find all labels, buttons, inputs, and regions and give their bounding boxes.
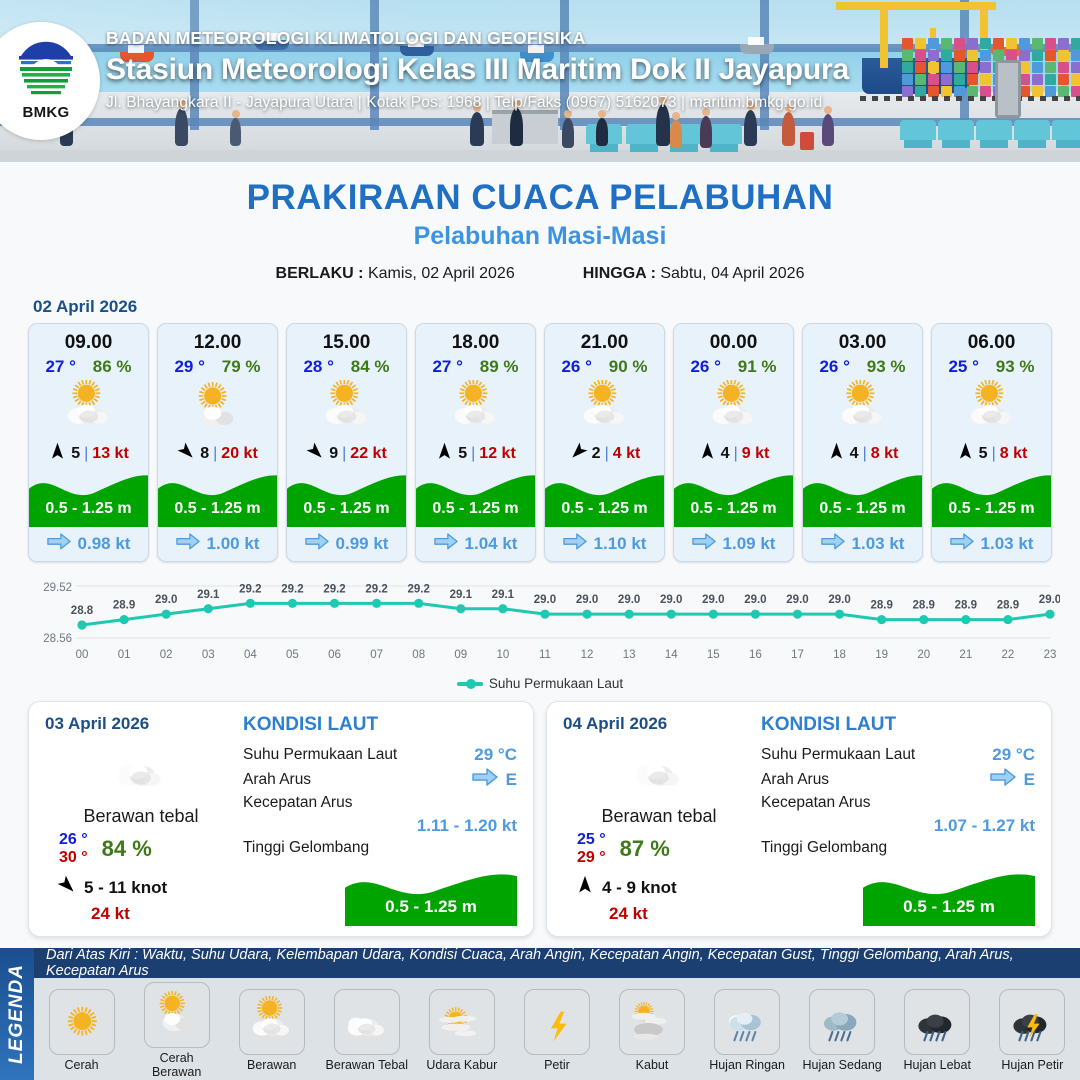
sst-label: Suhu Permukaan Laut xyxy=(243,746,397,764)
wind-direction-arrow-icon xyxy=(698,442,717,466)
current-speed: 0.99 kt xyxy=(336,534,389,554)
wind-separator: | xyxy=(84,445,88,463)
current-speed-value: 1.07 - 1.27 kt xyxy=(761,816,1035,836)
svg-text:20: 20 xyxy=(917,649,930,661)
valid-from-label: BERLAKU : xyxy=(276,265,364,282)
daily-summary-card[interactable]: 04 April 2026 Berawan tebal 25 ° 29 ° 87… xyxy=(546,701,1052,937)
valid-until: HINGGA : Sabtu, 04 April 2026 xyxy=(583,265,805,283)
weather-berawan-icon xyxy=(287,377,406,439)
wind-direction-arrow-icon xyxy=(435,442,454,466)
svg-text:01: 01 xyxy=(118,649,131,661)
current-direction-arrow-icon xyxy=(692,533,716,555)
svg-text:29.2: 29.2 xyxy=(365,583,387,595)
wind-separator: | xyxy=(471,445,475,463)
sst-value: 29 °C xyxy=(992,745,1035,765)
wave-height-value: 0.5 - 1.25 m xyxy=(29,500,148,518)
current-speed: 1.10 kt xyxy=(594,534,647,554)
svg-text:18: 18 xyxy=(833,649,846,661)
legend-item-label: Hujan Lebat xyxy=(894,1058,980,1072)
forecast-humidity: 93 % xyxy=(867,357,906,377)
svg-text:00: 00 xyxy=(76,649,89,661)
svg-text:29.1: 29.1 xyxy=(450,589,473,601)
forecast-time: 03.00 xyxy=(803,324,922,356)
wind-speed: 4 xyxy=(850,445,859,463)
svg-text:28.9: 28.9 xyxy=(955,600,977,612)
legend-item: Petir xyxy=(514,989,600,1072)
agency-name: BADAN METEOROLOGI KLIMATOLOGI DAN GEOFIS… xyxy=(106,28,849,49)
daily-gust: 24 kt xyxy=(45,904,237,924)
forecast-humidity: 93 % xyxy=(996,357,1035,377)
legend-item: Kabut xyxy=(609,989,695,1072)
current-speed: 1.04 kt xyxy=(465,534,518,554)
legend-tab-label: LEGENDA xyxy=(6,964,28,1064)
forecast-humidity: 84 % xyxy=(351,357,390,377)
svg-text:11: 11 xyxy=(539,649,551,661)
daily-humidity: 84 % xyxy=(102,836,152,862)
current-speed: 0.98 kt xyxy=(78,534,131,554)
svg-text:22: 22 xyxy=(1002,649,1015,661)
forecast-card[interactable]: 21.00 26 ° 90 % 2 | 4 kt 0.5 - 1.25 m 1.… xyxy=(544,323,665,562)
svg-text:08: 08 xyxy=(412,649,425,661)
daily-wind-range: 4 - 9 knot xyxy=(602,878,677,898)
wind-direction-arrow-icon xyxy=(177,442,196,466)
wind-separator: | xyxy=(213,445,217,463)
svg-text:29.52: 29.52 xyxy=(43,582,72,594)
svg-text:29.1: 29.1 xyxy=(492,589,515,601)
page-title-block: PRAKIRAAN CUACA PELABUHAN Pelabuhan Masi… xyxy=(0,178,1080,283)
wind-direction-arrow-icon xyxy=(827,442,846,466)
wind-direction-arrow-icon xyxy=(569,442,588,466)
wind-speed: 9 xyxy=(329,445,338,463)
wave-height-band: 0.5 - 1.25 m xyxy=(932,469,1051,527)
wind-separator: | xyxy=(863,445,867,463)
svg-text:29.0: 29.0 xyxy=(702,594,724,606)
svg-text:06: 06 xyxy=(328,649,341,661)
weather-berawan-icon xyxy=(29,377,148,439)
forecast-time: 12.00 xyxy=(158,324,277,356)
wave-height-value: 0.5 - 1.25 m xyxy=(158,500,277,518)
forecast-temperature: 26 ° xyxy=(561,357,591,377)
wave-height-band: 0.5 - 1.25 m xyxy=(158,469,277,527)
svg-text:19: 19 xyxy=(875,649,888,661)
weather-berawan-icon xyxy=(416,377,535,439)
daily-wind-direction-arrow-icon xyxy=(57,875,77,900)
wave-height-value: 0.5 - 1.25 m xyxy=(287,500,406,518)
legend-item: Cerah Berawan xyxy=(134,982,220,1079)
svg-text:29.0: 29.0 xyxy=(534,594,556,606)
bmkg-emblem-icon xyxy=(15,34,77,104)
legend-item-label: Berawan xyxy=(229,1058,315,1072)
page-title: PRAKIRAAN CUACA PELABUHAN xyxy=(0,178,1080,218)
wave-height-label: Tinggi Gelombang xyxy=(761,839,887,857)
wind-separator: | xyxy=(605,445,609,463)
weather-berawan-tebal-icon xyxy=(334,989,400,1055)
weather-hujan-lebat-icon xyxy=(904,989,970,1055)
wind-direction-arrow-icon xyxy=(956,442,975,466)
weather-berawan-icon xyxy=(545,377,664,439)
weather-berawan-icon xyxy=(239,989,305,1055)
weather-cerah-icon xyxy=(49,989,115,1055)
daily-condition: Berawan tebal xyxy=(563,806,755,827)
current-direction-arrow-icon xyxy=(305,533,329,555)
weather-petir-icon xyxy=(524,989,590,1055)
svg-text:28.9: 28.9 xyxy=(913,600,935,612)
forecast-card[interactable]: 12.00 29 ° 79 % 8 | 20 kt 0.5 - 1.25 m 1… xyxy=(157,323,278,562)
wind-speed: 5 xyxy=(71,445,80,463)
svg-text:29.2: 29.2 xyxy=(323,583,345,595)
weather-kabut-icon xyxy=(619,989,685,1055)
daily-condition: Berawan tebal xyxy=(45,806,237,827)
daily-wind-range: 5 - 11 knot xyxy=(84,878,167,898)
wind-separator: | xyxy=(734,445,738,463)
forecast-card[interactable]: 15.00 28 ° 84 % 9 | 22 kt 0.5 - 1.25 m 0… xyxy=(286,323,407,562)
legend-tab: LEGENDA xyxy=(0,948,34,1080)
legend-item: Hujan Lebat xyxy=(894,989,980,1072)
current-speed-label: Kecepatan Arus xyxy=(761,794,870,812)
svg-text:16: 16 xyxy=(749,649,762,661)
daily-date: 03 April 2026 xyxy=(45,714,237,734)
current-direction-arrow-icon xyxy=(472,768,498,791)
weather-hujan-ringan-icon xyxy=(714,989,780,1055)
daily-temp-min: 26 ° xyxy=(59,831,88,849)
weather-berawan-tebal-icon xyxy=(563,738,755,800)
wind-speed: 2 xyxy=(592,445,601,463)
current-speed: 1.03 kt xyxy=(852,534,905,554)
current-direction-label: Arah Arus xyxy=(243,771,311,789)
svg-text:28.56: 28.56 xyxy=(43,633,72,645)
svg-text:23: 23 xyxy=(1044,649,1057,661)
wave-height-value: 0.5 - 1.25 m xyxy=(932,500,1051,518)
wind-direction-arrow-icon xyxy=(306,442,325,466)
forecast-time: 00.00 xyxy=(674,324,793,356)
daily-wave-band: 0.5 - 1.25 m xyxy=(863,868,1035,926)
forecast-card[interactable]: 18.00 27 ° 89 % 5 | 12 kt 0.5 - 1.25 m 1… xyxy=(415,323,536,562)
forecast-card[interactable]: 03.00 26 ° 93 % 4 | 8 kt 0.5 - 1.25 m 1.… xyxy=(802,323,923,562)
sea-condition-title: KONDISI LAUT xyxy=(761,714,1035,736)
forecast-humidity: 90 % xyxy=(609,357,648,377)
svg-text:04: 04 xyxy=(244,649,257,661)
daily-temp-max: 29 ° xyxy=(577,849,606,867)
forecast-temperature: 26 ° xyxy=(819,357,849,377)
forecast-temperature: 29 ° xyxy=(174,357,204,377)
legend-item-label: Petir xyxy=(514,1058,600,1072)
weather-cerah-berawan-icon xyxy=(158,377,277,439)
current-direction-arrow-icon xyxy=(563,533,587,555)
svg-text:29.0: 29.0 xyxy=(786,594,808,606)
legend-item-label: Cerah xyxy=(39,1058,125,1072)
legend-strip: LEGENDA Dari Atas Kiri : Waktu, Suhu Uda… xyxy=(0,948,1080,1080)
weather-udara-kabur-icon xyxy=(429,989,495,1055)
wind-speed: 5 xyxy=(458,445,467,463)
wind-gust: 13 kt xyxy=(92,445,128,463)
daily-date: 04 April 2026 xyxy=(563,714,755,734)
legend-item: Udara Kabur xyxy=(419,989,505,1072)
weather-hujan-sedang-icon xyxy=(809,989,875,1055)
wave-height-value: 0.5 - 1.25 m xyxy=(545,500,664,518)
legend-item-label: Hujan Sedang xyxy=(799,1058,885,1072)
wave-height-band: 0.5 - 1.25 m xyxy=(287,469,406,527)
svg-text:17: 17 xyxy=(791,649,804,661)
svg-text:29.0: 29.0 xyxy=(660,594,682,606)
current-direction-value: E xyxy=(506,770,517,790)
daily-wave-value: 0.5 - 1.25 m xyxy=(345,897,517,917)
legend-item: Hujan Petir xyxy=(989,989,1075,1072)
wind-gust: 20 kt xyxy=(221,445,257,463)
svg-text:29.2: 29.2 xyxy=(281,583,303,595)
current-direction-arrow-icon xyxy=(47,533,71,555)
wave-height-band: 0.5 - 1.25 m xyxy=(29,469,148,527)
weather-hujan-petir-icon xyxy=(999,989,1065,1055)
legend-item-label: Berawan Tebal xyxy=(324,1058,410,1072)
daily-summary-list: 03 April 2026 Berawan tebal 26 ° 30 ° 84… xyxy=(0,691,1080,937)
svg-text:21: 21 xyxy=(959,649,972,661)
svg-text:05: 05 xyxy=(286,649,299,661)
validity-row: BERLAKU : Kamis, 02 April 2026 HINGGA : … xyxy=(0,265,1080,283)
wind-speed: 8 xyxy=(200,445,209,463)
forecast-temperature: 26 ° xyxy=(690,357,720,377)
svg-text:28.9: 28.9 xyxy=(997,600,1019,612)
svg-text:12: 12 xyxy=(581,649,594,661)
legend-note: Dari Atas Kiri : Waktu, Suhu Udara, Kele… xyxy=(34,948,1080,978)
daily-humidity: 87 % xyxy=(620,836,670,862)
svg-text:29.0: 29.0 xyxy=(828,594,850,606)
forecast-time: 06.00 xyxy=(932,324,1051,356)
weather-berawan-tebal-icon xyxy=(45,738,237,800)
forecast-humidity: 79 % xyxy=(222,357,261,377)
svg-text:09: 09 xyxy=(454,649,467,661)
legend-item: Cerah xyxy=(39,989,125,1072)
daily-gust: 24 kt xyxy=(563,904,755,924)
wave-height-band: 0.5 - 1.25 m xyxy=(545,469,664,527)
wave-height-label: Tinggi Gelombang xyxy=(243,839,369,857)
chart-legend-label: Suhu Permukaan Laut xyxy=(489,676,623,691)
svg-text:15: 15 xyxy=(707,649,720,661)
current-speed: 1.00 kt xyxy=(207,534,260,554)
weather-cerah-berawan-icon xyxy=(144,982,210,1048)
wind-direction-arrow-icon xyxy=(48,442,67,466)
daily-wave-band: 0.5 - 1.25 m xyxy=(345,868,517,926)
wave-height-band: 0.5 - 1.25 m xyxy=(674,469,793,527)
wind-gust: 22 kt xyxy=(350,445,386,463)
valid-from: BERLAKU : Kamis, 02 April 2026 xyxy=(276,265,515,283)
daily-wind-direction-arrow-icon xyxy=(575,875,595,900)
wave-height-value: 0.5 - 1.25 m xyxy=(416,500,535,518)
forecast-time: 15.00 xyxy=(287,324,406,356)
forecast-time: 21.00 xyxy=(545,324,664,356)
svg-text:29.0: 29.0 xyxy=(1039,594,1060,606)
chart-legend: Suhu Permukaan Laut xyxy=(0,676,1080,691)
svg-text:29.0: 29.0 xyxy=(618,594,640,606)
wind-separator: | xyxy=(992,445,996,463)
svg-text:29.2: 29.2 xyxy=(239,583,261,595)
svg-text:29.1: 29.1 xyxy=(197,589,220,601)
current-direction-arrow-icon xyxy=(950,533,974,555)
daily-wave-value: 0.5 - 1.25 m xyxy=(863,897,1035,917)
legend-item: Berawan xyxy=(229,989,315,1072)
valid-from-value: Kamis, 02 April 2026 xyxy=(368,265,515,282)
forecast-time: 18.00 xyxy=(416,324,535,356)
forecast-temperature: 27 ° xyxy=(45,357,75,377)
current-direction-label: Arah Arus xyxy=(761,771,829,789)
wind-gust: 8 kt xyxy=(1000,445,1028,463)
svg-text:28.9: 28.9 xyxy=(113,600,135,612)
daily-temp-max: 30 ° xyxy=(59,849,88,867)
svg-text:28.8: 28.8 xyxy=(71,605,94,617)
daily-temp-min: 25 ° xyxy=(577,831,606,849)
page-subtitle: Pelabuhan Masi-Masi xyxy=(0,222,1080,251)
svg-text:29.0: 29.0 xyxy=(576,594,598,606)
forecast-day-label: 02 April 2026 xyxy=(33,297,1080,317)
forecast-humidity: 91 % xyxy=(738,357,777,377)
wind-speed: 4 xyxy=(721,445,730,463)
forecast-humidity: 89 % xyxy=(480,357,519,377)
svg-text:10: 10 xyxy=(496,649,509,661)
current-speed: 1.09 kt xyxy=(723,534,776,554)
legend-item-label: Udara Kabur xyxy=(419,1058,505,1072)
weather-berawan-icon xyxy=(932,377,1051,439)
header-banner: BMKG BADAN METEOROLOGI KLIMATOLOGI DAN G… xyxy=(0,0,1080,162)
current-direction-arrow-icon xyxy=(990,768,1016,791)
svg-text:14: 14 xyxy=(665,649,678,661)
wind-gust: 4 kt xyxy=(613,445,641,463)
svg-text:29.2: 29.2 xyxy=(408,583,430,595)
legend-item-label: Kabut xyxy=(609,1058,695,1072)
current-speed-label: Kecepatan Arus xyxy=(243,794,352,812)
valid-until-label: HINGGA : xyxy=(583,265,656,282)
forecast-card[interactable]: 09.00 27 ° 86 % 5 | 13 kt 0.5 - 1.25 m 0… xyxy=(28,323,149,562)
sea-condition-title: KONDISI LAUT xyxy=(243,714,517,736)
legend-item-label: Hujan Petir xyxy=(989,1058,1075,1072)
forecast-card[interactable]: 00.00 26 ° 91 % 4 | 9 kt 0.5 - 1.25 m 1.… xyxy=(673,323,794,562)
svg-text:29.0: 29.0 xyxy=(744,594,766,606)
sst-chart: 29.5228.5628.80028.90129.00229.10329.204… xyxy=(20,572,1060,672)
current-direction-arrow-icon xyxy=(434,533,458,555)
svg-text:29.0: 29.0 xyxy=(155,594,177,606)
svg-text:28.9: 28.9 xyxy=(870,600,892,612)
wind-gust: 8 kt xyxy=(871,445,899,463)
forecast-temperature: 25 ° xyxy=(948,357,978,377)
current-speed: 1.03 kt xyxy=(981,534,1034,554)
bmkg-logo-text: BMKG xyxy=(15,104,77,121)
legend-item-label: Hujan Ringan xyxy=(704,1058,790,1072)
station-address: Jl. Bhayangkara II - Jayapura Utara | Ko… xyxy=(106,94,849,112)
station-name: Stasiun Meteorologi Kelas III Maritim Do… xyxy=(106,53,849,87)
forecast-card-list: 09.00 27 ° 86 % 5 | 13 kt 0.5 - 1.25 m 0… xyxy=(0,323,1080,562)
wave-height-band: 0.5 - 1.25 m xyxy=(803,469,922,527)
forecast-temperature: 27 ° xyxy=(432,357,462,377)
current-direction-value: E xyxy=(1024,770,1035,790)
svg-text:02: 02 xyxy=(160,649,173,661)
forecast-humidity: 86 % xyxy=(93,357,132,377)
svg-text:03: 03 xyxy=(202,649,215,661)
legend-item: Hujan Ringan xyxy=(704,989,790,1072)
wind-separator: | xyxy=(342,445,346,463)
current-speed-value: 1.11 - 1.20 kt xyxy=(243,816,517,836)
legend-item-label: Cerah Berawan xyxy=(134,1051,220,1079)
current-direction-arrow-icon xyxy=(176,533,200,555)
wave-height-value: 0.5 - 1.25 m xyxy=(674,500,793,518)
sst-value: 29 °C xyxy=(474,745,517,765)
svg-text:13: 13 xyxy=(623,649,636,661)
header-floor-tiles xyxy=(0,150,1080,162)
daily-summary-card[interactable]: 03 April 2026 Berawan tebal 26 ° 30 ° 84… xyxy=(28,701,534,937)
forecast-temperature: 28 ° xyxy=(303,357,333,377)
current-direction-arrow-icon xyxy=(821,533,845,555)
valid-until-value: Sabtu, 04 April 2026 xyxy=(660,265,804,282)
legend-item-list: Cerah Cerah Berawan Berawan Berawan Teba… xyxy=(34,978,1080,1080)
sst-label: Suhu Permukaan Laut xyxy=(761,746,915,764)
forecast-time: 09.00 xyxy=(29,324,148,356)
wind-gust: 9 kt xyxy=(742,445,770,463)
weather-berawan-icon xyxy=(674,377,793,439)
weather-berawan-icon xyxy=(803,377,922,439)
chart-legend-marker xyxy=(457,682,483,686)
forecast-card[interactable]: 06.00 25 ° 93 % 5 | 8 kt 0.5 - 1.25 m 1.… xyxy=(931,323,1052,562)
legend-item: Hujan Sedang xyxy=(799,989,885,1072)
svg-text:07: 07 xyxy=(370,649,383,661)
wave-height-value: 0.5 - 1.25 m xyxy=(803,500,922,518)
wind-gust: 12 kt xyxy=(479,445,515,463)
legend-item: Berawan Tebal xyxy=(324,989,410,1072)
wave-height-band: 0.5 - 1.25 m xyxy=(416,469,535,527)
wind-speed: 5 xyxy=(979,445,988,463)
